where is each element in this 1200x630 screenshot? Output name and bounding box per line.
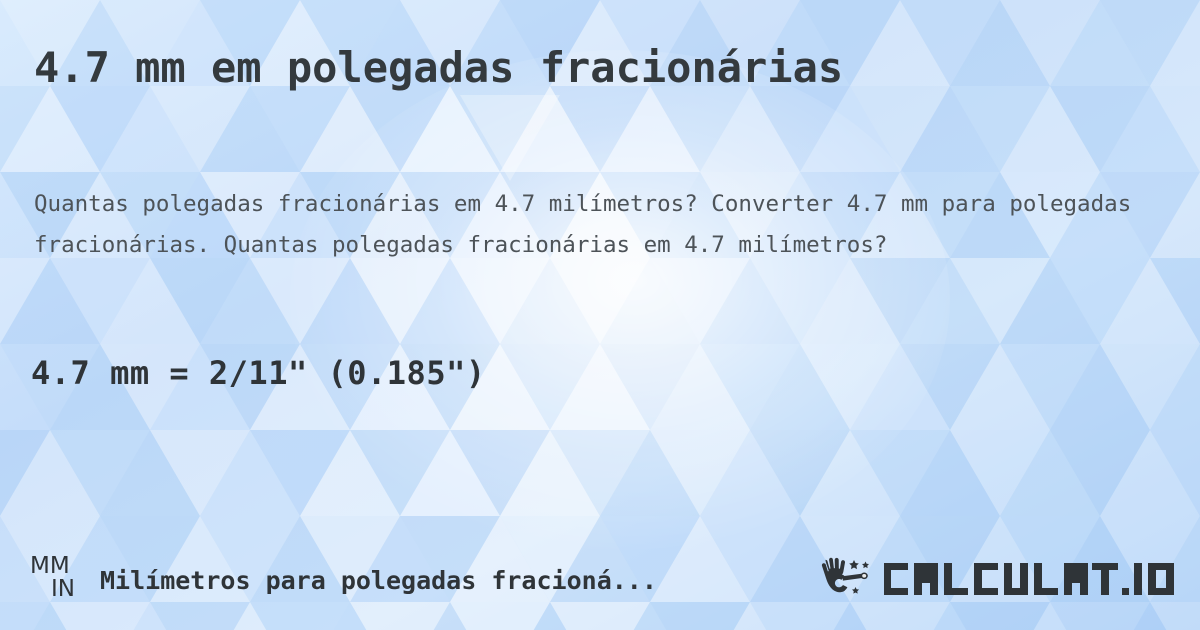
page-title: 4.7 mm em polegadas fracionárias bbox=[34, 42, 1174, 94]
mm-in-icon: MM IN bbox=[30, 552, 88, 604]
brand-name bbox=[882, 559, 1178, 599]
brand-wordmark-icon bbox=[882, 559, 1178, 599]
og-image-card: 4.7 mm em polegadas fracionárias Quantas… bbox=[0, 0, 1200, 630]
mm-in-icon-bottom-label: IN bbox=[51, 578, 75, 601]
intro-paragraph: Quantas polegadas fracionárias em 4.7 mi… bbox=[34, 184, 1179, 266]
brand-logo[interactable] bbox=[820, 554, 1178, 602]
footer-bar: MM IN Milímetros para polegadas fracioná… bbox=[0, 534, 1200, 630]
conversion-result: 4.7 mm = 2/11" (0.185") bbox=[31, 352, 486, 394]
content-area: 4.7 mm em polegadas fracionárias Quantas… bbox=[0, 0, 1200, 630]
footer-converter-label: Milímetros para polegadas fracioná... bbox=[100, 562, 820, 595]
mm-in-icon-top-label: MM bbox=[30, 555, 70, 578]
magic-wand-hand-icon bbox=[820, 556, 876, 602]
